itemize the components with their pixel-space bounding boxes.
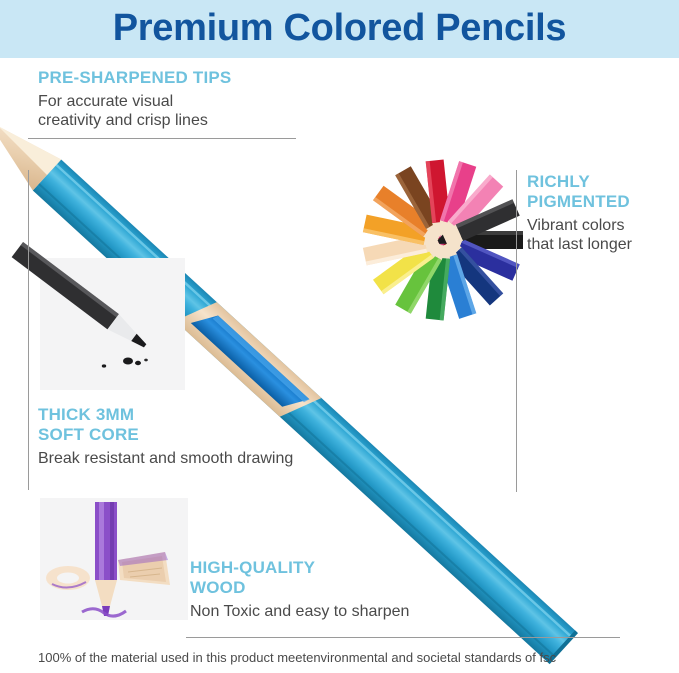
feature-body-line: creativity and crisp lines bbox=[38, 111, 231, 130]
feature-body-line: Vibrant colors bbox=[527, 216, 632, 235]
feature-body-line: Non Toxic and easy to sharpen bbox=[190, 602, 409, 621]
feature-thick-3mm-soft-core: THICK 3MM SOFT CORE Break resistant and … bbox=[38, 405, 293, 468]
divider-left-vertical bbox=[28, 170, 29, 490]
feature-heading-line: PRE-SHARPENED TIPS bbox=[38, 68, 231, 88]
feature-high-quality-wood: HIGH-QUALITY WOOD Non Toxic and easy to … bbox=[190, 558, 409, 621]
feature-heading-line: SOFT CORE bbox=[38, 425, 293, 445]
footer-disclaimer: 100% of the material used in this produc… bbox=[38, 650, 556, 665]
feature-heading-line: PIGMENTED bbox=[527, 192, 632, 212]
purple-pencil-shavings-photo bbox=[40, 498, 188, 620]
feature-body-line: Break resistant and smooth drawing bbox=[38, 449, 293, 468]
black-pencil-broken-lead-photo bbox=[12, 242, 185, 390]
feature-heading-line: THICK 3MM bbox=[38, 405, 293, 425]
divider-under-pre-sharpened bbox=[28, 138, 296, 139]
divider-under-high-quality-wood bbox=[186, 637, 620, 638]
feature-body-line: For accurate visual bbox=[38, 92, 231, 111]
feature-heading-line: WOOD bbox=[190, 578, 409, 598]
divider-right-vertical bbox=[516, 170, 517, 492]
feature-body-line: that last longer bbox=[527, 235, 632, 254]
feature-pre-sharpened-tips: PRE-SHARPENED TIPS For accurate visual c… bbox=[38, 68, 231, 130]
colored-pencil-fan-photo bbox=[363, 159, 523, 320]
page-title: Premium Colored Pencils bbox=[0, 0, 679, 58]
product-infographic: Premium Colored Pencils bbox=[0, 0, 679, 673]
feature-heading-line: HIGH-QUALITY bbox=[190, 558, 409, 578]
feature-heading-line: RICHLY bbox=[527, 172, 632, 192]
feature-richly-pigmented: RICHLY PIGMENTED Vibrant colors that las… bbox=[527, 172, 632, 254]
